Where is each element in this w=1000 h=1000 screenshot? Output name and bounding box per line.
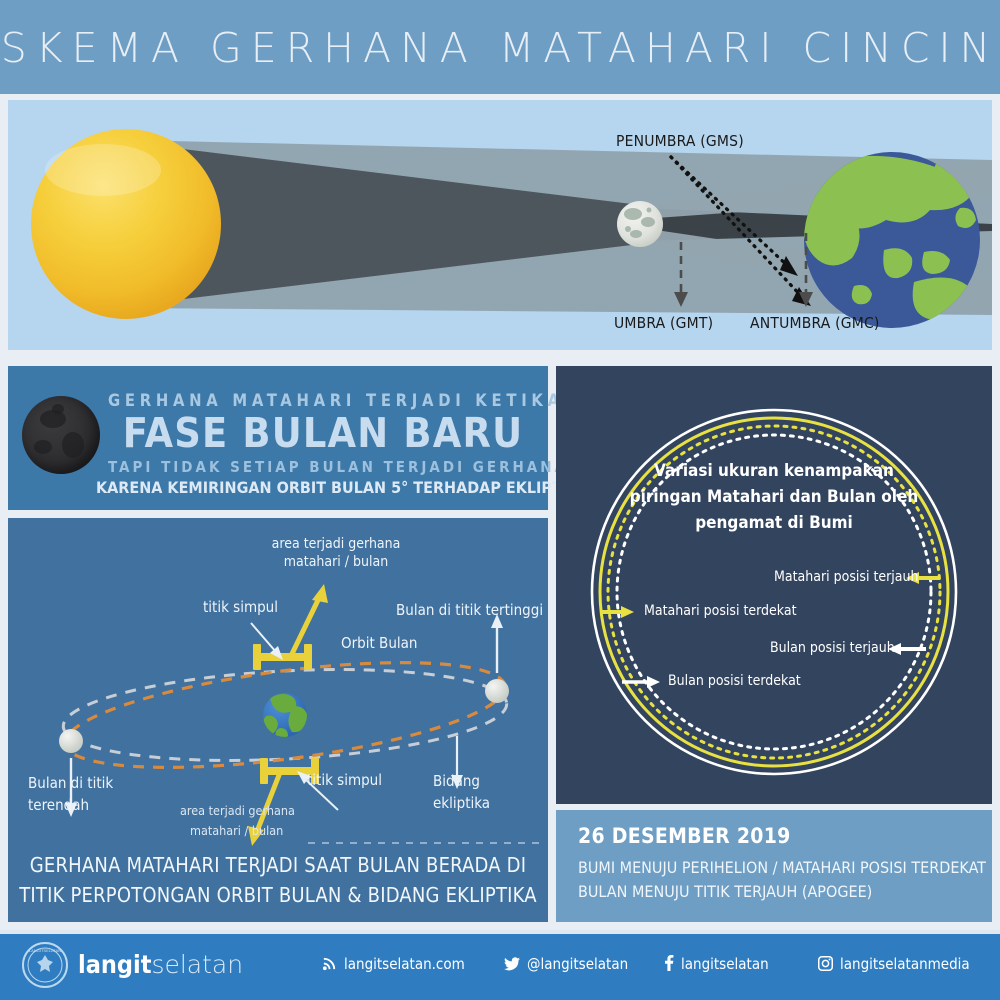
label-moon-lowest-l2: terendah <box>28 796 89 814</box>
moon-sphere <box>617 201 663 247</box>
apparent-size-svg <box>556 366 992 804</box>
label-moon-highest: Bulan di titik tertinggi <box>396 601 543 619</box>
label-penumbra: PENUMBRA (GMS) <box>616 132 744 150</box>
social-link-instagram[interactable]: langitselatanmedia <box>818 955 970 975</box>
apparent-size-caption: Variasi ukuran kenampakan piringan Matah… <box>616 458 932 536</box>
eclipse-geometry-diagram: PENUMBRA (GMS) UMBRA (GMT) ANTUMBRA (GMC… <box>8 100 992 350</box>
new-moon-icon <box>22 396 100 474</box>
label-moon-lowest-l1: Bulan di titik <box>28 774 113 792</box>
label-eclipse-area-bottom-l2: matahari / bulan <box>190 822 283 840</box>
twitter-icon <box>504 957 520 975</box>
new-moon-kicker: GERHANA MATAHARI TERJADI KETIKA <box>108 391 538 410</box>
label-eclipse-area-bottom-l1: area terjadi gerhana <box>180 802 295 820</box>
node-marker-top <box>253 644 312 670</box>
label-moon-nearest: Bulan posisi terdekat <box>668 673 801 689</box>
seal-icon: LANGITSELATAN <box>24 944 66 986</box>
earth-small-icon <box>262 693 308 740</box>
brand-light: selatan <box>151 950 243 979</box>
moon-highest-arrow <box>491 614 503 673</box>
orbit-footer-line-1: GERHANA MATAHARI TERJADI SAAT BULAN BERA… <box>8 850 548 880</box>
social-label-instagram: langitselatanmedia <box>840 955 970 973</box>
date-panel: 26 DESEMBER 2019 BUMI MENUJU PERIHELION … <box>556 810 992 922</box>
orbit-footer-text: GERHANA MATAHARI TERJADI SAAT BULAN BERA… <box>8 850 548 910</box>
label-node-bottom: titik simpul <box>307 771 382 789</box>
langitselatan-seal-logo: LANGITSELATAN <box>22 942 68 988</box>
earth-globe <box>803 152 980 328</box>
label-umbra: UMBRA (GMT) <box>614 314 713 332</box>
new-moon-note: KARENA KEMIRINGAN ORBIT BULAN 5° TERHADA… <box>96 478 546 497</box>
apparent-size-panel: Variasi ukuran kenampakan piringan Matah… <box>556 366 992 804</box>
label-antumbra: ANTUMBRA (GMC) <box>750 314 880 332</box>
orbit-footer-line-2: TITIK PERPOTONGAN ORBIT BULAN & BIDANG E… <box>8 880 548 910</box>
social-label-facebook: langitselatan <box>681 955 769 973</box>
label-node-top: titik simpul <box>203 598 278 616</box>
moon-orbit-panel: area terjadi gerhana matahari / bulan ti… <box>8 518 548 922</box>
label-ecliptic-l1: Bidang <box>433 772 480 790</box>
label-eclipse-area-top-l2: matahari / bulan <box>266 553 406 571</box>
page-title: SKEMA GERHANA MATAHARI CINCIN <box>0 24 1000 72</box>
label-sun-nearest: Matahari posisi terdekat <box>644 603 797 619</box>
new-moon-headline: FASE BULAN BARU <box>108 410 538 456</box>
brand-wordmark[interactable]: langitselatan <box>78 950 243 979</box>
page-header: SKEMA GERHANA MATAHARI CINCIN <box>0 0 1000 94</box>
caption-line-2: piringan Matahari dan Bulan oleh <box>616 484 932 510</box>
label-ecliptic-l2: ekliptika <box>433 794 490 812</box>
label-moon-farthest: Bulan posisi terjauh <box>770 640 895 656</box>
social-link-twitter[interactable]: @langitselatan <box>504 955 628 975</box>
label-sun-farthest: Matahari posisi terjauh <box>774 569 919 585</box>
label-eclipse-area-top-l1: area terjadi gerhana <box>266 535 406 553</box>
instagram-icon <box>818 956 833 975</box>
social-link-facebook[interactable]: langitselatan <box>664 955 769 975</box>
label-moon-orbit: Orbit Bulan <box>341 634 417 652</box>
moon-highest-icon <box>485 679 509 703</box>
new-moon-phase-panel: GERHANA MATAHARI TERJADI KETIKA FASE BUL… <box>8 366 548 510</box>
new-moon-subline: TAPI TIDAK SETIAP BULAN TERJADI GERHANA <box>108 458 538 476</box>
caption-line-1: Variasi ukuran kenampakan <box>616 458 932 484</box>
seal-text: LANGITSELATAN <box>29 948 61 953</box>
infographic-root: SKEMA GERHANA MATAHARI CINCIN <box>0 0 1000 1000</box>
footer-divider <box>0 930 1000 934</box>
social-label-website: langitselatan.com <box>344 955 465 973</box>
facebook-icon <box>664 955 674 975</box>
social-link-website[interactable]: langitselatan.com <box>322 955 465 975</box>
date-note-line-1: BUMI MENUJU PERIHELION / MATAHARI POSISI… <box>578 856 988 880</box>
eclipse-date-note: BUMI MENUJU PERIHELION / MATAHARI POSISI… <box>578 856 988 904</box>
sun-sphere <box>31 129 221 319</box>
eclipse-date: 26 DESEMBER 2019 <box>578 824 791 848</box>
caption-line-3: pengamat di Bumi <box>616 510 932 536</box>
rss-icon <box>322 956 337 975</box>
social-label-twitter: @langitselatan <box>527 955 628 973</box>
site-footer: LANGITSELATAN langitselatan langitselata… <box>0 930 1000 1000</box>
date-note-line-2: BULAN MENUJU TITIK TERJAUH (APOGEE) <box>578 880 988 904</box>
brand-bold: langit <box>78 950 151 979</box>
moon-lowest-icon <box>59 729 83 753</box>
eclipse-geometry-svg <box>8 100 992 350</box>
